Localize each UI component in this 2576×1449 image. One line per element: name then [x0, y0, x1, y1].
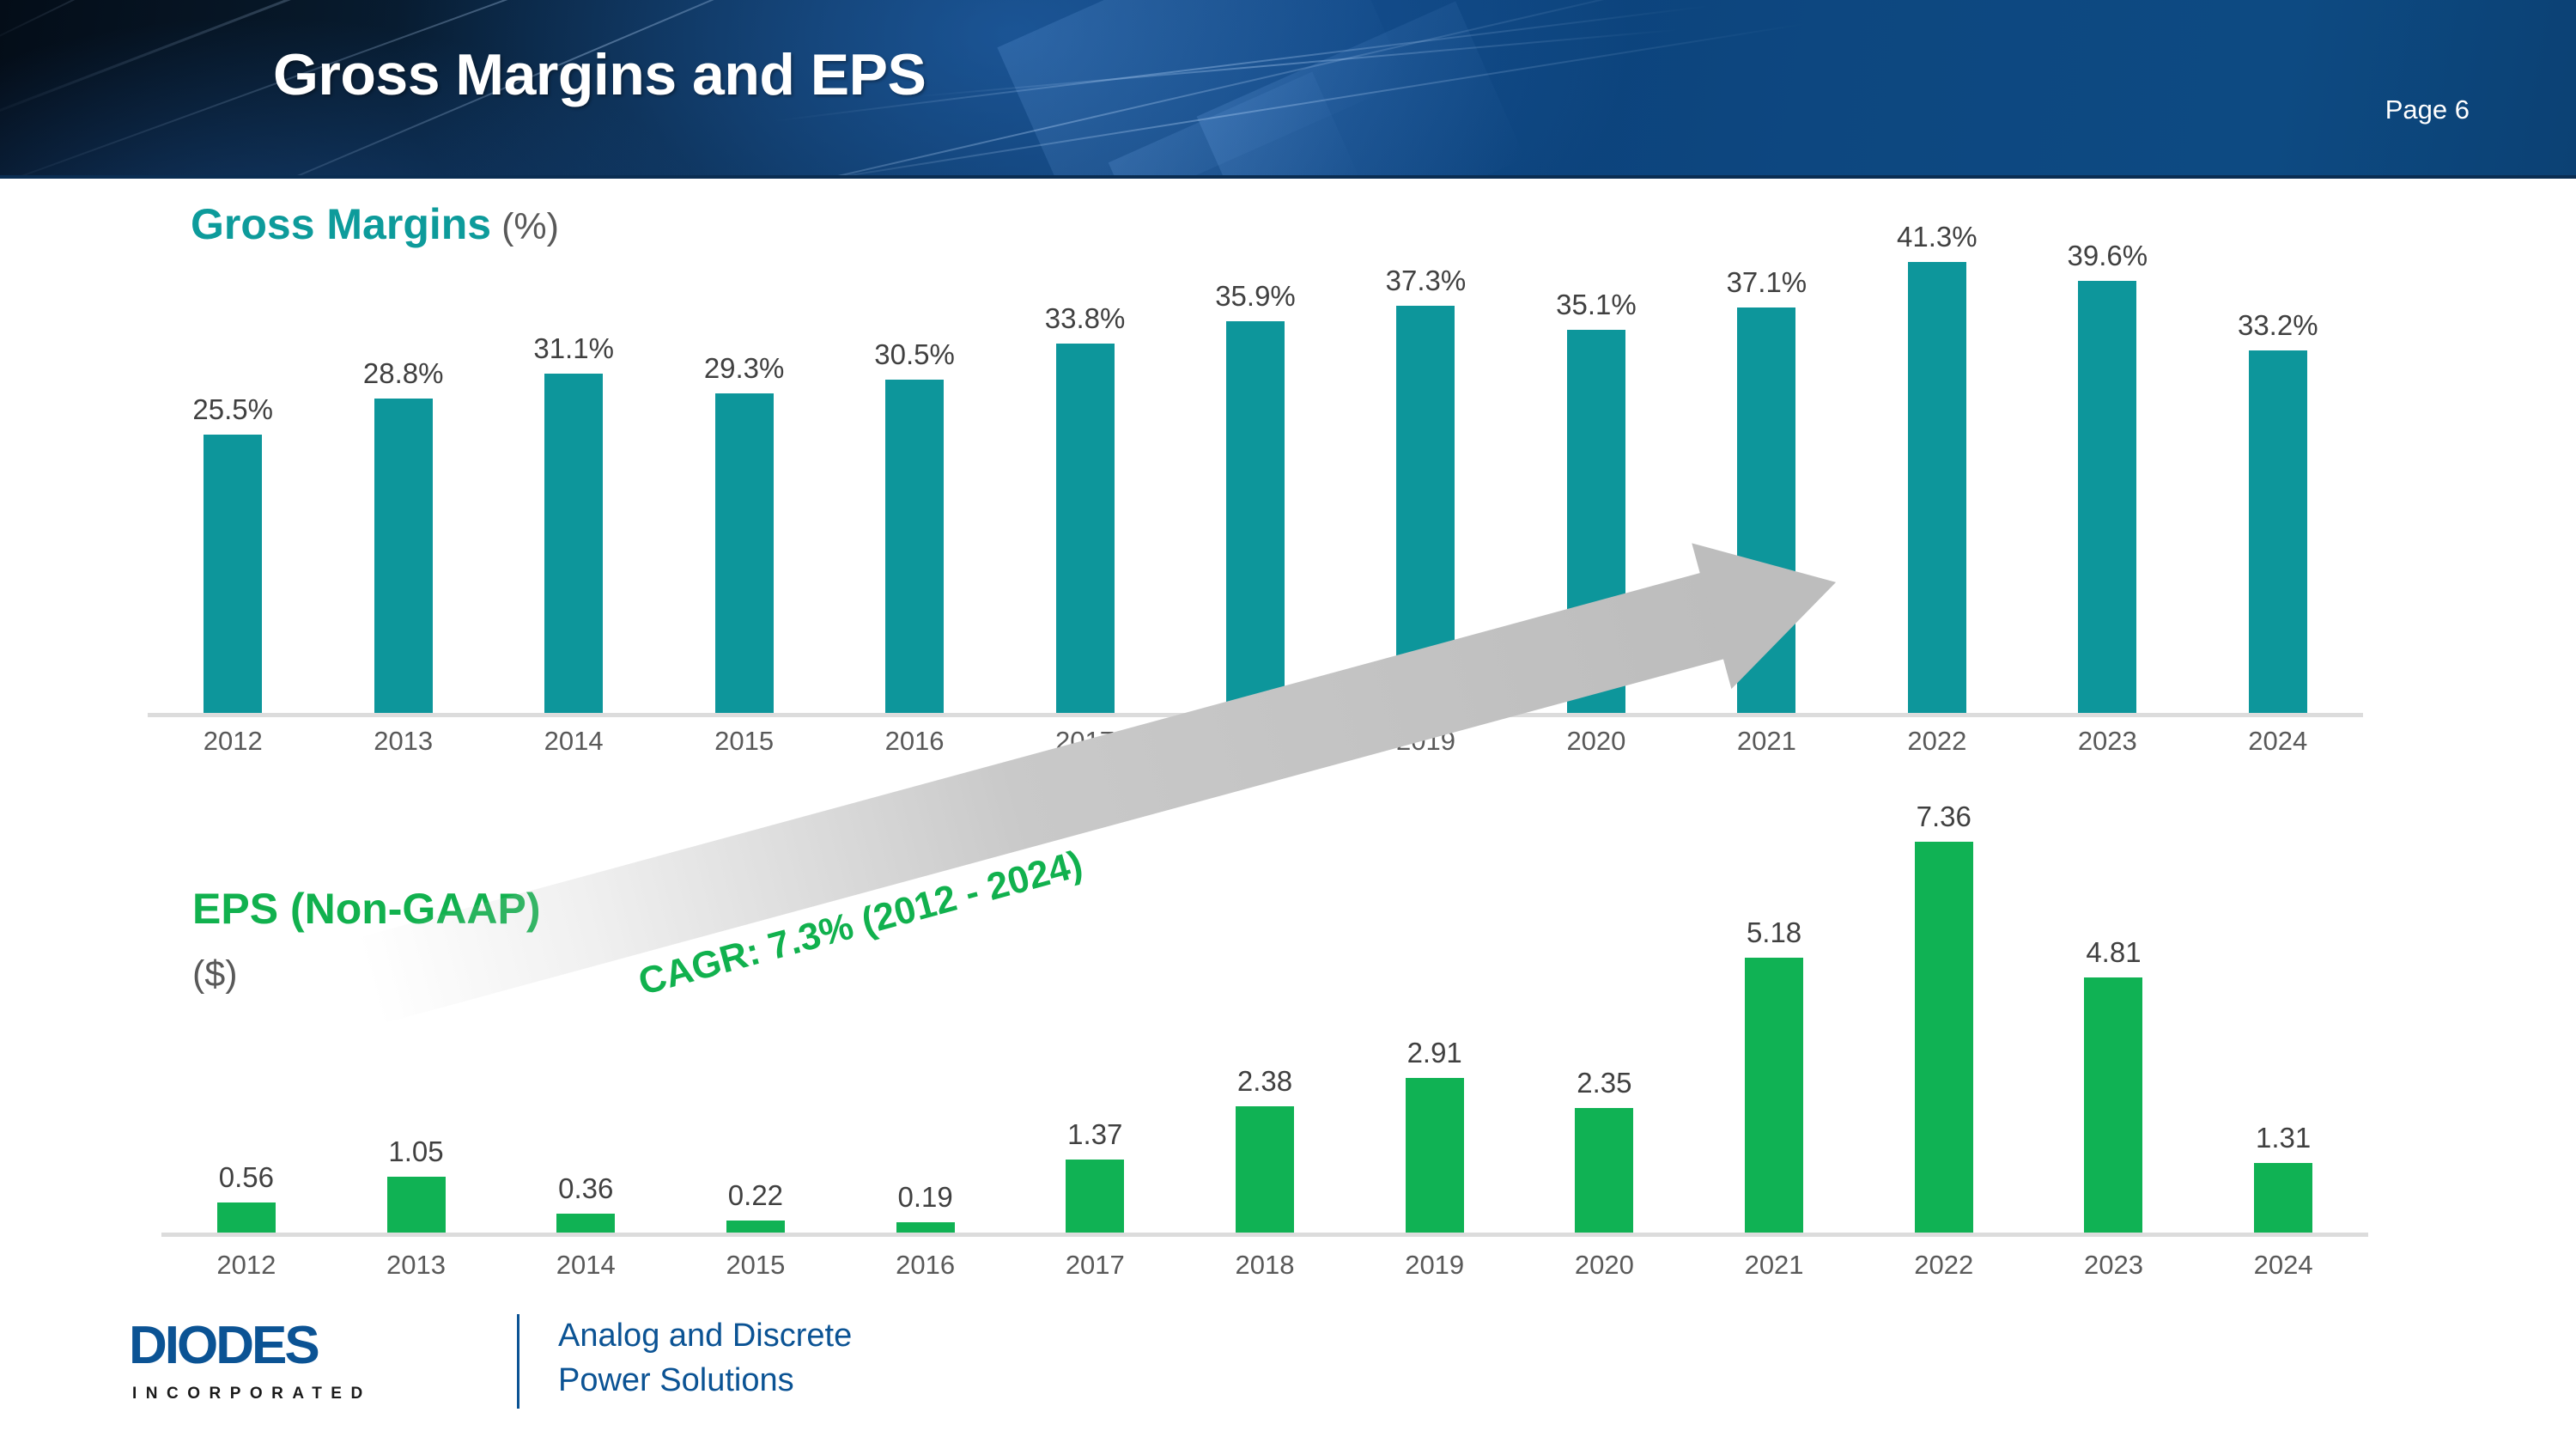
- x-axis-tick-label: 2012: [155, 726, 310, 757]
- bar: [1737, 307, 1795, 713]
- x-axis-tick-label: 2021: [1697, 1250, 1851, 1281]
- bar-value-label: 25.5%: [155, 393, 310, 426]
- bar: [885, 380, 944, 713]
- bar: [204, 435, 262, 713]
- tagline-line-2: Power Solutions: [558, 1362, 794, 1399]
- bar-value-label: 30.5%: [837, 338, 992, 371]
- gross-margins-bar-chart: 25.5%28.8%31.1%29.3%30.5%33.8%35.9%37.3%…: [148, 232, 2363, 717]
- x-axis-tick-label: 2018: [1188, 1250, 1342, 1281]
- header-facet-3: [1109, 72, 1365, 179]
- bar: [556, 1214, 615, 1233]
- slide-header-banner: Gross Margins and EPS Page 6: [0, 0, 2576, 179]
- bar-value-label: 33.8%: [1008, 302, 1163, 335]
- header-facet-2: [1197, 2, 1526, 179]
- bar: [1066, 1160, 1124, 1233]
- bar-value-label: 1.05: [339, 1135, 494, 1168]
- bar: [726, 1221, 785, 1233]
- x-axis-tick-label: 2015: [667, 726, 822, 757]
- bar-value-label: 39.6%: [2030, 240, 2184, 272]
- bar: [217, 1202, 276, 1233]
- x-axis-tick-label: 2019: [1358, 1250, 1512, 1281]
- page-title: Gross Margins and EPS: [273, 41, 926, 108]
- bar: [1567, 330, 1625, 713]
- bar-value-label: 37.3%: [1348, 265, 1503, 297]
- bar-value-label: 0.19: [848, 1181, 1003, 1214]
- gross-margins-x-axis-labels: 2012201320142015201620172018201920202021…: [148, 726, 2363, 769]
- bar-value-label: 1.37: [1018, 1118, 1172, 1151]
- bar-value-label: 41.3%: [1860, 221, 2014, 253]
- x-axis-tick-label: 2014: [496, 726, 651, 757]
- bar: [715, 393, 774, 713]
- bar-value-label: 2.91: [1358, 1037, 1512, 1069]
- bar-value-label: 0.22: [678, 1179, 833, 1212]
- bar: [2084, 977, 2142, 1233]
- x-axis-tick-label: 2023: [2030, 726, 2184, 757]
- x-axis-tick-label: 2022: [1867, 1250, 2021, 1281]
- x-axis-tick-label: 2021: [1689, 726, 1844, 757]
- bar-value-label: 35.9%: [1178, 280, 1333, 313]
- x-axis-tick-label: 2013: [339, 1250, 494, 1281]
- bar-value-label: 33.2%: [2201, 309, 2355, 342]
- x-axis-tick-label: 2024: [2206, 1250, 2360, 1281]
- bar: [1915, 842, 1973, 1233]
- header-bottom-rule: [0, 175, 2576, 179]
- bar: [387, 1177, 446, 1233]
- gross-margins-baseline: [148, 713, 2363, 717]
- company-logo-block: DIODES INCORPORATED Analog and Discrete …: [129, 1312, 987, 1424]
- tagline-line-1: Analog and Discrete: [558, 1318, 852, 1355]
- header-streak-7: [910, 29, 1680, 98]
- bar-value-label: 31.1%: [496, 332, 651, 365]
- x-axis-tick-label: 2024: [2201, 726, 2355, 757]
- bar: [1575, 1108, 1633, 1233]
- bar-value-label: 29.3%: [667, 352, 822, 385]
- bar: [1406, 1078, 1464, 1233]
- x-axis-tick-label: 2022: [1860, 726, 2014, 757]
- bar-value-label: 5.18: [1697, 916, 1851, 949]
- diodes-logo-icon: DIODES: [129, 1312, 472, 1379]
- bar: [2254, 1163, 2312, 1233]
- logo-wordmark-text: DIODES: [129, 1312, 472, 1379]
- x-axis-tick-label: 2014: [508, 1250, 663, 1281]
- bar: [1056, 344, 1115, 713]
- x-axis-tick-label: 2020: [1527, 1250, 1681, 1281]
- x-axis-tick-label: 2016: [837, 726, 992, 757]
- header-facet-1: [997, 0, 1406, 179]
- x-axis-tick-label: 2017: [1018, 1250, 1172, 1281]
- bar: [896, 1222, 955, 1233]
- logo-incorporated-text: INCORPORATED: [132, 1385, 372, 1403]
- bar-value-label: 35.1%: [1519, 289, 1674, 321]
- eps-x-axis-labels: 2012201320142015201620172018201920202021…: [161, 1250, 2368, 1293]
- bar-value-label: 2.38: [1188, 1065, 1342, 1098]
- x-axis-tick-label: 2023: [2036, 1250, 2190, 1281]
- x-axis-tick-label: 2012: [169, 1250, 324, 1281]
- bar: [374, 399, 433, 713]
- bar: [1226, 321, 1285, 713]
- x-axis-tick-label: 2020: [1519, 726, 1674, 757]
- x-axis-tick-label: 2013: [326, 726, 481, 757]
- bar-value-label: 0.36: [508, 1172, 663, 1205]
- logo-divider: [517, 1314, 519, 1409]
- x-axis-tick-label: 2018: [1178, 726, 1333, 757]
- slide-canvas: Gross Margins and EPS Page 6 Gross Margi…: [0, 0, 2576, 1449]
- bar-value-label: 0.56: [169, 1161, 324, 1194]
- bar-value-label: 2.35: [1527, 1067, 1681, 1099]
- bar: [2249, 350, 2307, 713]
- bar-value-label: 4.81: [2036, 936, 2190, 969]
- bar: [1236, 1106, 1294, 1233]
- bar: [1908, 262, 1966, 713]
- bar-value-label: 1.31: [2206, 1122, 2360, 1154]
- eps-baseline: [161, 1233, 2368, 1237]
- x-axis-tick-label: 2019: [1348, 726, 1503, 757]
- bar: [1745, 958, 1803, 1233]
- x-axis-tick-label: 2016: [848, 1250, 1003, 1281]
- bar: [544, 374, 603, 713]
- eps-bar-chart: 0.561.050.360.220.191.372.382.912.355.18…: [161, 803, 2368, 1237]
- bar-value-label: 7.36: [1867, 801, 2021, 833]
- bar-value-label: 28.8%: [326, 357, 481, 390]
- bar-value-label: 37.1%: [1689, 266, 1844, 299]
- x-axis-tick-label: 2015: [678, 1250, 833, 1281]
- bar: [2078, 281, 2136, 713]
- bar: [1396, 306, 1455, 713]
- x-axis-tick-label: 2017: [1008, 726, 1163, 757]
- page-number-label: Page 6: [2385, 94, 2470, 125]
